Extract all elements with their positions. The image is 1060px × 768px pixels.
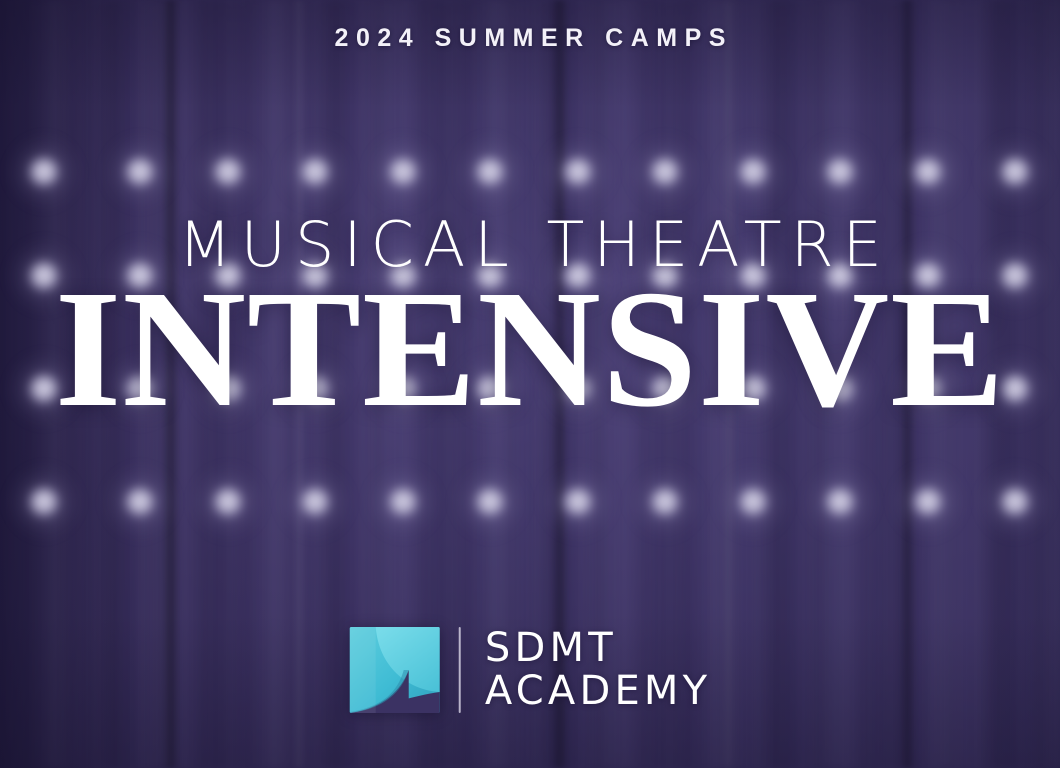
- marquee-bulb: [300, 157, 330, 187]
- marquee-bulb: [913, 487, 943, 517]
- marquee-bulb: [913, 157, 943, 187]
- logo-word-sdmt: SDMT: [481, 627, 712, 670]
- logo-divider: [459, 627, 461, 713]
- title-line-intensive: INTENSIVE: [0, 272, 1060, 427]
- marquee-bulb: [125, 487, 155, 517]
- eyebrow-text: 2024 SUMMER CAMPS: [0, 24, 1060, 53]
- marquee-bulb: [1000, 157, 1030, 187]
- marquee-bulb: [563, 487, 593, 517]
- poster-canvas: 2024 SUMMER CAMPS MUSICAL THEATRE INTENS…: [0, 0, 1060, 768]
- marquee-bulb: [475, 487, 505, 517]
- marquee-bulb: [29, 157, 59, 187]
- marquee-bulb: [29, 487, 59, 517]
- marquee-bulb: [125, 157, 155, 187]
- marquee-bulb: [825, 157, 855, 187]
- marquee-bulb: [388, 487, 418, 517]
- marquee-bulb: [213, 157, 243, 187]
- marquee-bulb: [300, 487, 330, 517]
- marquee-bulb: [650, 487, 680, 517]
- marquee-bulb: [388, 157, 418, 187]
- poster-title-block: MUSICAL THEATRE INTENSIVE: [0, 214, 1060, 427]
- marquee-bulb: [738, 157, 768, 187]
- marquee-bulb: [650, 157, 680, 187]
- marquee-bulb: [563, 157, 593, 187]
- marquee-bulb: [825, 487, 855, 517]
- logo-wordmark: SDMT ACADEMY: [481, 627, 712, 713]
- marquee-bulb: [738, 487, 768, 517]
- marquee-bulb: [1000, 487, 1030, 517]
- marquee-bulb: [475, 157, 505, 187]
- sdmt-academy-mark-icon: [349, 626, 441, 714]
- logo-word-academy: ACADEMY: [481, 670, 712, 713]
- marquee-bulb: [213, 487, 243, 517]
- sdmt-academy-logo: SDMT ACADEMY: [349, 626, 712, 714]
